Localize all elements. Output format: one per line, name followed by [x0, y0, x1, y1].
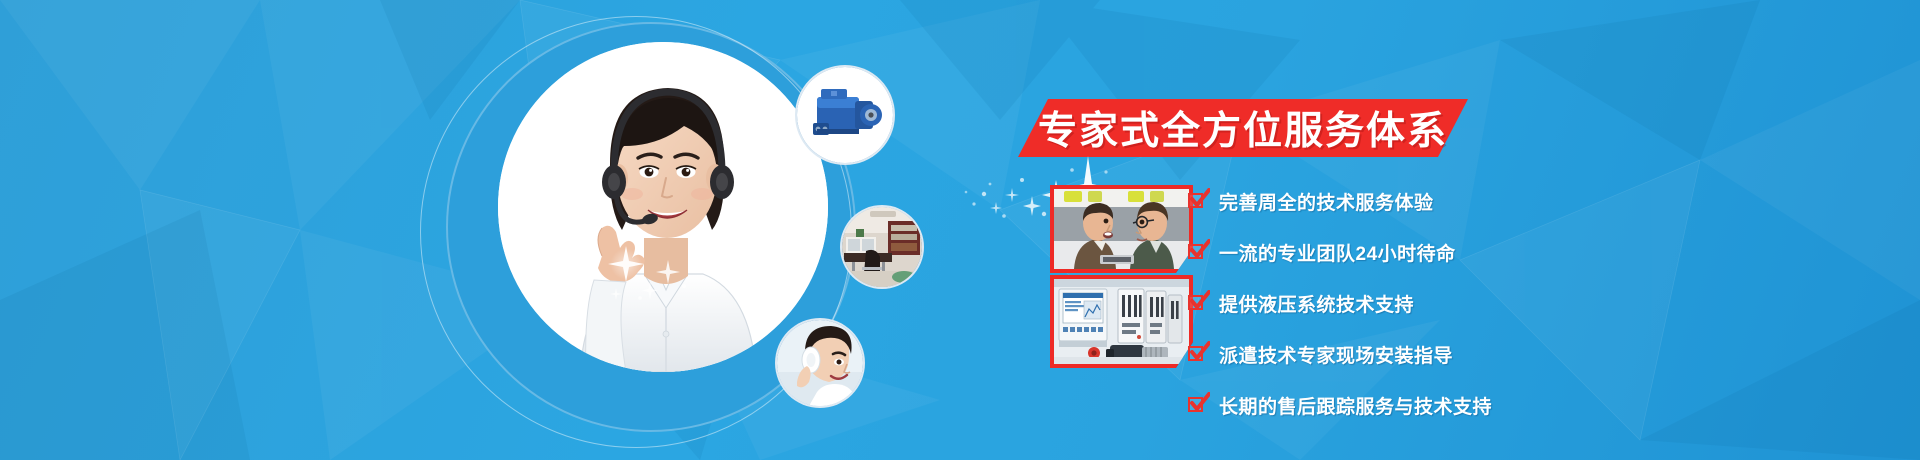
check-icon: [1188, 191, 1208, 211]
check-icon: [1188, 395, 1208, 415]
list-item-label: 长期的售后跟踪服务与技术支持: [1219, 392, 1492, 419]
orbit-thumb-service-agent[interactable]: [775, 318, 865, 408]
check-icon: [1188, 242, 1208, 262]
control-equipment-illustration: [1054, 279, 1189, 364]
list-item-label: 提供液压系统技术支持: [1219, 290, 1414, 317]
list-item-label: 完善周全的技术服务体验: [1219, 188, 1434, 215]
list-item-label: 一流的专业团队24小时待命: [1219, 239, 1456, 266]
orbit-thumb-hydraulic-pump[interactable]: [795, 65, 895, 165]
service-banner: 专家式全方位服务体系: [0, 0, 1920, 460]
service-feature-list: 完善周全的技术服务体验 一流的专业团队24小时待命 提供液压系统技术支持 派遣技…: [1188, 182, 1518, 437]
photo-control-equipment[interactable]: [1050, 275, 1193, 368]
title-banner: 专家式全方位服务体系: [1018, 99, 1468, 157]
orbit-thumb-office-interior[interactable]: [840, 205, 924, 289]
check-icon: [1188, 344, 1208, 364]
office-interior-icon: [842, 207, 922, 287]
list-item[interactable]: 长期的售后跟踪服务与技术支持: [1188, 386, 1518, 424]
list-item[interactable]: 派遣技术专家现场安装指导: [1188, 335, 1518, 373]
service-agent-icon: [777, 320, 863, 406]
list-item[interactable]: 提供液压系统技术支持: [1188, 284, 1518, 322]
page-title: 专家式全方位服务体系: [1018, 99, 1468, 157]
list-item[interactable]: 一流的专业团队24小时待命: [1188, 233, 1518, 271]
list-item[interactable]: 完善周全的技术服务体验: [1188, 182, 1518, 220]
check-icon: [1188, 293, 1208, 313]
photo-consultation[interactable]: [1050, 185, 1193, 273]
hydraulic-pump-icon: [797, 67, 893, 163]
list-item-label: 派遣技术专家现场安装指导: [1219, 341, 1453, 368]
consultation-photo-illustration: [1054, 189, 1189, 269]
